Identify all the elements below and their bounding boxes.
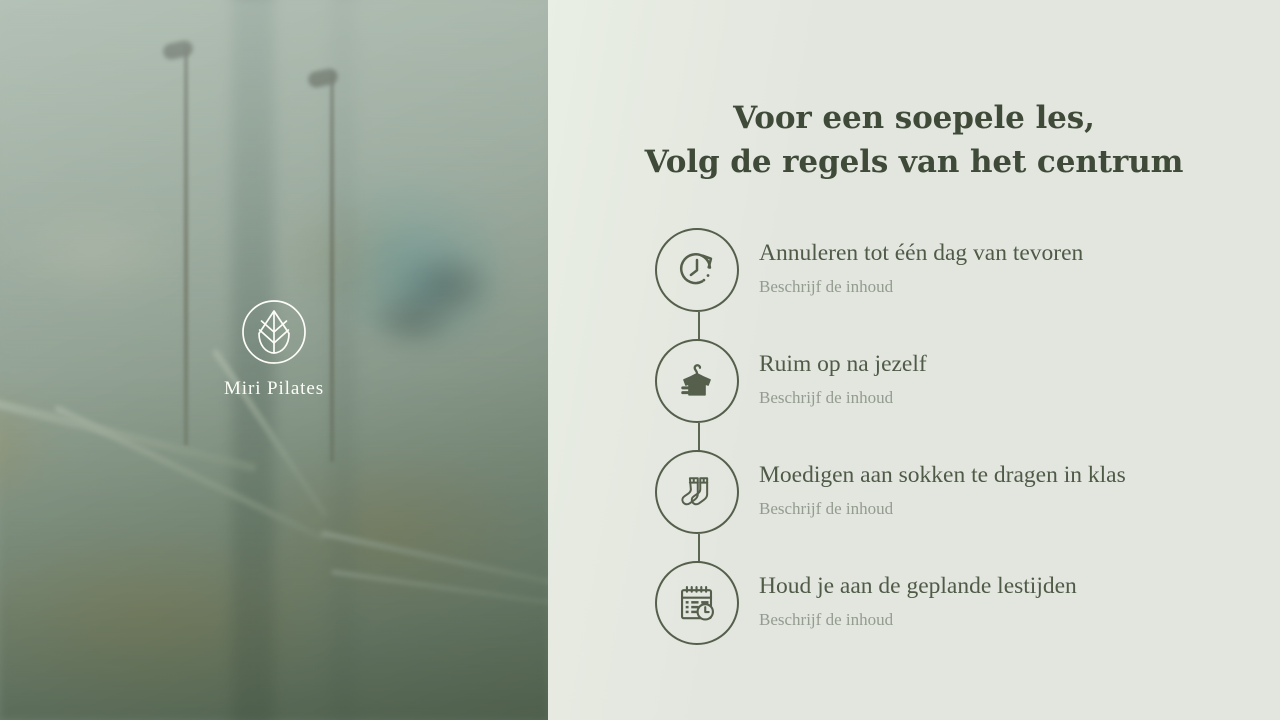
timeline-connector: [698, 312, 700, 340]
rule-icon-4: [655, 561, 739, 645]
rule-subtitle: Beschrijf de inhoud: [759, 277, 1083, 297]
photo-panel: Miri Pilates: [0, 0, 548, 720]
rule-icon-1: [655, 228, 739, 312]
calendar-clock-icon: [674, 580, 720, 626]
brand-name: Miri Pilates: [224, 379, 324, 398]
timeline-connector: [698, 534, 700, 562]
socks-icon: [674, 469, 720, 515]
list-item: Moedigen aan sokken te dragen in klas Be…: [655, 450, 1255, 561]
page-title-line-2: Volg de regels van het centrum: [588, 140, 1240, 184]
slide-root: Miri Pilates Voor een soepele les, Volg …: [0, 0, 1280, 720]
rule-subtitle: Beschrijf de inhoud: [759, 388, 927, 408]
timeline-connector: [698, 423, 700, 451]
rule-title: Annuleren tot één dag van tevoren: [759, 240, 1083, 268]
list-item: Ruim op na jezelf Beschrijf de inhoud: [655, 339, 1255, 450]
clock-history-icon: [674, 247, 720, 293]
brand-logo: Miri Pilates: [0, 299, 548, 398]
rule-subtitle: Beschrijf de inhoud: [759, 610, 1077, 630]
rule-icon-3: [655, 450, 739, 534]
rule-text-2: Ruim op na jezelf Beschrijf de inhoud: [759, 339, 927, 408]
leaf-in-circle-icon: [241, 299, 307, 365]
page-title-line-1: Voor een soepele les,: [588, 96, 1240, 140]
content-panel: Voor een soepele les, Volg de regels van…: [548, 0, 1280, 720]
list-item: Annuleren tot één dag van tevoren Beschr…: [655, 228, 1255, 339]
rule-title: Ruim op na jezelf: [759, 351, 927, 379]
rule-icon-2: [655, 339, 739, 423]
list-item: Houd je aan de geplande lestijden Beschr…: [655, 561, 1255, 653]
rule-title: Moedigen aan sokken te dragen in klas: [759, 462, 1126, 490]
shirt-hanger-icon: [674, 358, 720, 404]
rule-text-3: Moedigen aan sokken te dragen in klas Be…: [759, 450, 1126, 519]
page-title: Voor een soepele les, Volg de regels van…: [548, 0, 1280, 184]
rule-subtitle: Beschrijf de inhoud: [759, 499, 1126, 519]
rule-text-4: Houd je aan de geplande lestijden Beschr…: [759, 561, 1077, 630]
rule-title: Houd je aan de geplande lestijden: [759, 573, 1077, 601]
rules-timeline: Annuleren tot één dag van tevoren Beschr…: [655, 228, 1255, 653]
rule-text-1: Annuleren tot één dag van tevoren Beschr…: [759, 228, 1083, 297]
